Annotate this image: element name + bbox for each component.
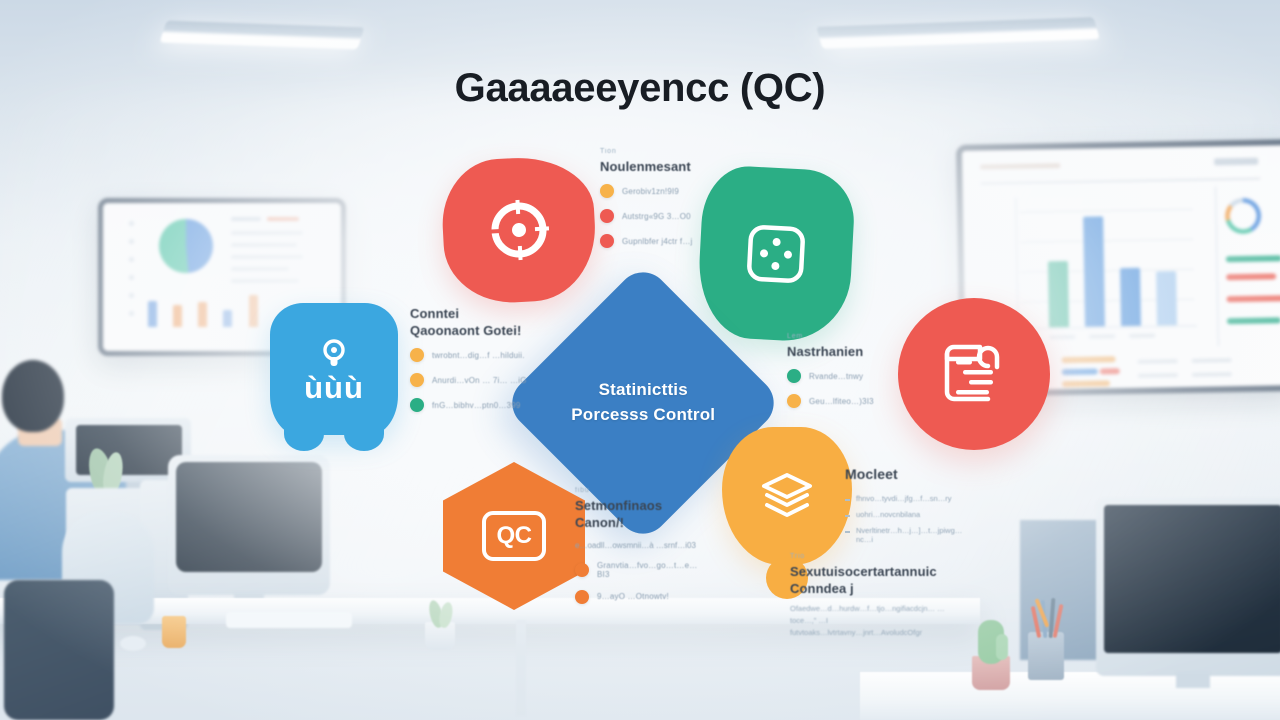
layers-stack-icon (760, 471, 814, 521)
block-bullet-list: Rvande…tnwy Geu…lfiteo…)3I3 (787, 369, 905, 408)
list-item: Gerobiv1zn!9I9 (600, 184, 730, 198)
bullet-dot-icon (575, 563, 589, 577)
block-sampling: fibu Setmonfinaos Canon/! e…oadll…owsmni… (575, 487, 703, 604)
bullet-dot-icon (787, 369, 801, 383)
bullet-label: Geu…lfiteo…)3I3 (809, 397, 874, 406)
list-item: Autstrg«9G 3…O0 (600, 209, 730, 223)
block-heading: Conntei Qaoonaont Gotei! (410, 305, 530, 339)
list-item: Anurdi…vOn … 7i… …iG (410, 373, 530, 387)
bullet-label: Granvtia…fvo…go…t…e…BI3 (597, 561, 703, 579)
block-heading: Nastrhanien (787, 343, 905, 360)
report-document-icon (941, 344, 1007, 404)
bullet-dot-icon (410, 348, 424, 362)
list-item: uohri…novcnbilana (845, 510, 967, 519)
bullet-dot-icon (410, 398, 424, 412)
bullet-dot-icon (600, 234, 614, 248)
block-kicker: fibu (575, 487, 703, 494)
list-item: Geu…lfiteo…)3I3 (787, 394, 905, 408)
list-item: fnG…bibhv…ptn0…399 (410, 398, 530, 412)
bullet-label: Gerobiv1zn!9I9 (622, 187, 679, 196)
list-item: 9…ayO …Otnowtv! (575, 590, 703, 604)
dash-marker-icon (845, 515, 850, 517)
block-kicker: Lem (787, 333, 905, 340)
bullet-dot-icon (575, 590, 589, 604)
list-item: Granvtia…fvo…go…t…e…BI3 (575, 561, 703, 579)
block-paragraph-line2: futvtoaks…lvtrtavny…jnrt…AvoludcOfgr (790, 627, 950, 639)
block-kicker: Trio (790, 553, 950, 560)
dash-label: fhnvo…tyvdi…jfg…f…sn…ry (856, 494, 951, 503)
block-model: Mocleet fhnvo…tyvdi…jfg…f…sn…ry uohri…no… (845, 465, 967, 544)
block-dash-list: fhnvo…tyvdi…jfg…f…sn…ry uohri…novcnbilan… (845, 494, 967, 544)
page-title: Gaaaaeeyencc (QC) (0, 66, 1280, 111)
block-heading: Noulenmesant (600, 158, 730, 175)
block-control-chart: Conntei Qaoonaont Gotei! twrobnt…dig…f …… (410, 305, 530, 412)
screenshot-stage: Gaaaaeeyencc (QC) ùùù (0, 0, 1280, 720)
list-item: Rvande…tnwy (787, 369, 905, 383)
list-item: twrobnt…dig…f …hilduii. (410, 348, 530, 362)
block-subtext: e…oadll…owsmnii…à …srnf…i03 (575, 540, 703, 551)
node-layers-shape[interactable] (722, 427, 852, 565)
bullet-label: Gupnlbfer j4ctr f…j (622, 237, 693, 246)
bullet-dot-icon (600, 184, 614, 198)
node-qc-glyph: QC (497, 522, 532, 550)
block-bullet-list: Gerobiv1zn!9I9 Autstrg«9G 3…O0 Gupnlbfer… (600, 184, 730, 248)
block-bullet-list: twrobnt…dig…f …hilduii. Anurdi…vOn … 7i…… (410, 348, 530, 412)
qc-badge-icon: QC (482, 511, 546, 561)
block-heading: Mocleet (845, 465, 967, 483)
target-icon (485, 196, 552, 263)
bullet-dot-icon (787, 394, 801, 408)
block-heading: Setmonfinaos Canon/! (575, 497, 703, 531)
dash-marker-icon (845, 499, 850, 501)
dash-label: Nverltinetr…h…j…]…t…jpiwg…nc…i (856, 526, 967, 544)
center-node-label-line2: Porcesss Control (571, 403, 715, 428)
magnifier-chart-icon (317, 336, 351, 370)
block-standards: Trio Sexutuisocertartannuic Conndea ј Of… (790, 553, 950, 639)
block-distribution: Lem Nastrhanien Rvande…tnwy Geu…lfiteo…)… (787, 333, 905, 408)
bullet-dot-icon (600, 209, 614, 223)
center-node-label: Statinicttis Porcesss Control (571, 378, 715, 427)
four-dots-square-icon (743, 221, 808, 286)
bullet-label: twrobnt…dig…f …hilduii. (432, 351, 525, 360)
bullet-label: Anurdi…vOn … 7i… …iG (432, 376, 527, 385)
list-item: Nverltinetr…h…j…]…t…jpiwg…nc…i (845, 526, 967, 544)
block-kicker: Tion (600, 148, 730, 155)
list-item: Gupnlbfer j4ctr f…j (600, 234, 730, 248)
block-paragraph-line1: Ofaedwe…d…hurdw…f…tjo…ngifiacdcjn… …toce… (790, 603, 950, 627)
bullet-label: 9…ayO …Otnowtv! (597, 592, 669, 601)
bullet-label: Rvande…tnwy (809, 372, 863, 381)
center-node-label-line1: Statinicttis (571, 378, 715, 403)
dash-marker-icon (845, 531, 850, 533)
block-measurement: Tion Noulenmesant Gerobiv1zn!9I9 Autstrg… (600, 148, 730, 248)
bullet-dot-icon (410, 373, 424, 387)
bullet-label: fnG…bibhv…ptn0…399 (432, 401, 521, 410)
node-report-shape[interactable] (898, 298, 1050, 450)
bullet-label: Autstrg«9G 3…O0 (622, 212, 691, 221)
block-heading: Sexutuisocertartannuic Conndea ј (790, 563, 950, 597)
dash-label: uohri…novcnbilana (856, 510, 920, 519)
block-bullet-list: Granvtia…fvo…go…t…e…BI3 9…ayO …Otnowtv! (575, 561, 703, 604)
node-inspect-glyph: ùùù (304, 372, 364, 403)
node-inspect-shape[interactable]: ùùù (270, 303, 398, 435)
list-item: fhnvo…tyvdi…jfg…f…sn…ry (845, 494, 967, 503)
